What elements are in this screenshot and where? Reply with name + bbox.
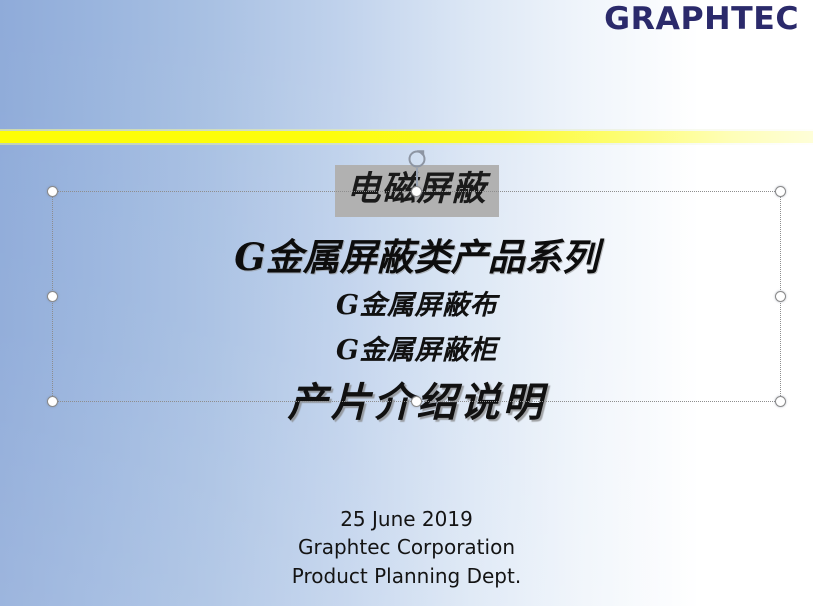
footer-company: Graphtec Corporation [0,533,813,561]
footer-block[interactable]: 25 June 2019 Graphtec Corporation Produc… [0,505,813,590]
graphtec-logo: GRAPHTEC [604,4,799,35]
rotate-handle-icon[interactable] [406,148,428,170]
selection-handle-top-left[interactable] [47,186,58,197]
selection-handle-bottom-right[interactable] [775,396,786,407]
selection-frame[interactable] [52,191,781,402]
accent-band [0,131,813,143]
selection-handle-top-right[interactable] [775,186,786,197]
selection-handle-bottom-left[interactable] [47,396,58,407]
footer-date: 25 June 2019 [0,505,813,533]
footer-department: Product Planning Dept. [0,562,813,590]
accent-band-bottom-edge [0,143,813,145]
selection-handle-bottom-center[interactable] [411,396,422,407]
selection-handle-top-center[interactable] [411,186,422,197]
selection-handle-middle-right[interactable] [775,291,786,302]
selection-handle-middle-left[interactable] [47,291,58,302]
presentation-slide: GRAPHTEC 电磁屏蔽 G金属屏蔽类产品系列 G金属屏蔽布 G金属屏蔽柜 产… [0,0,813,606]
